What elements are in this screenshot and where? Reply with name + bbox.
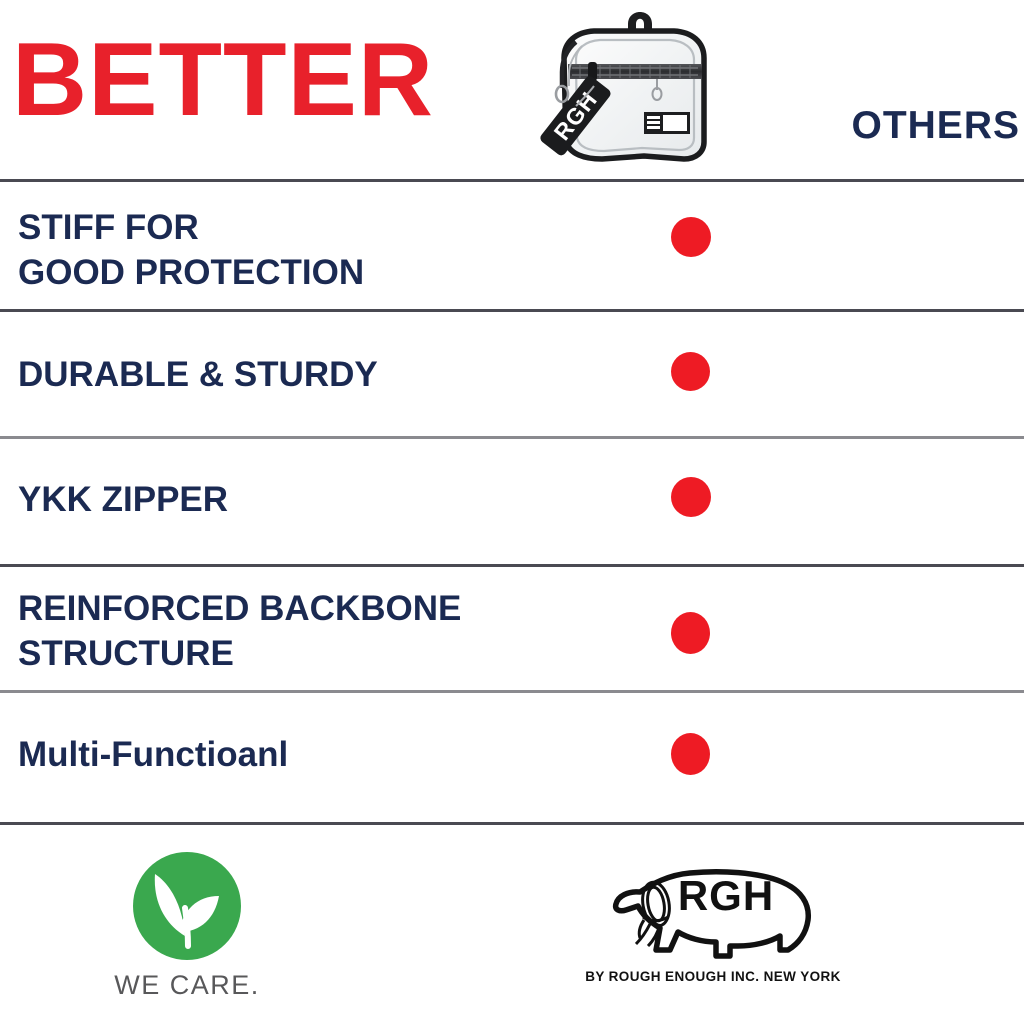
bag-label-patch [644, 112, 690, 134]
table-row: REINFORCED BACKBONE STRUCTURE [0, 564, 1024, 690]
better-check-dot [671, 352, 710, 391]
we-care-badge: WE CARE. [72, 852, 302, 1001]
feature-label: Multi-Functioanl [18, 732, 288, 777]
table-row: Multi-Functioanl [0, 690, 1024, 822]
footer: WE CARE. RGH BY ROUGH ENOUGH INC. NEW YO… [0, 824, 1024, 1013]
leaf-plant-icon [133, 852, 241, 960]
feature-label: REINFORCED BACKBONE STRUCTURE [18, 586, 461, 676]
product-image-clear-bag: RGH [524, 2, 754, 174]
better-column-heading: BETTER [12, 28, 434, 132]
feature-label: DURABLE & STURDY [18, 352, 378, 397]
better-check-dot [671, 612, 710, 654]
table-row: YKK ZIPPER [0, 436, 1024, 564]
better-check-dot [671, 217, 711, 257]
rgh-monogram: RGH [678, 872, 774, 919]
we-care-label: WE CARE. [72, 970, 302, 1001]
better-check-dot [671, 733, 710, 775]
bear-logo-icon: RGH [598, 862, 828, 968]
table-row: DURABLE & STURDY [0, 309, 1024, 436]
better-check-dot [671, 477, 711, 517]
feature-label: STIFF FOR GOOD PROTECTION [18, 205, 364, 295]
table-row: STIFF FOR GOOD PROTECTION [0, 179, 1024, 309]
others-column-heading: OTHERS [851, 106, 1020, 145]
comparison-header: BETTER [0, 0, 1024, 179]
feature-label: YKK ZIPPER [18, 477, 228, 522]
rgh-brand-logo: RGH BY ROUGH ENOUGH INC. NEW YORK [578, 862, 848, 984]
rgh-tagline: BY ROUGH ENOUGH INC. NEW YORK [578, 969, 848, 984]
